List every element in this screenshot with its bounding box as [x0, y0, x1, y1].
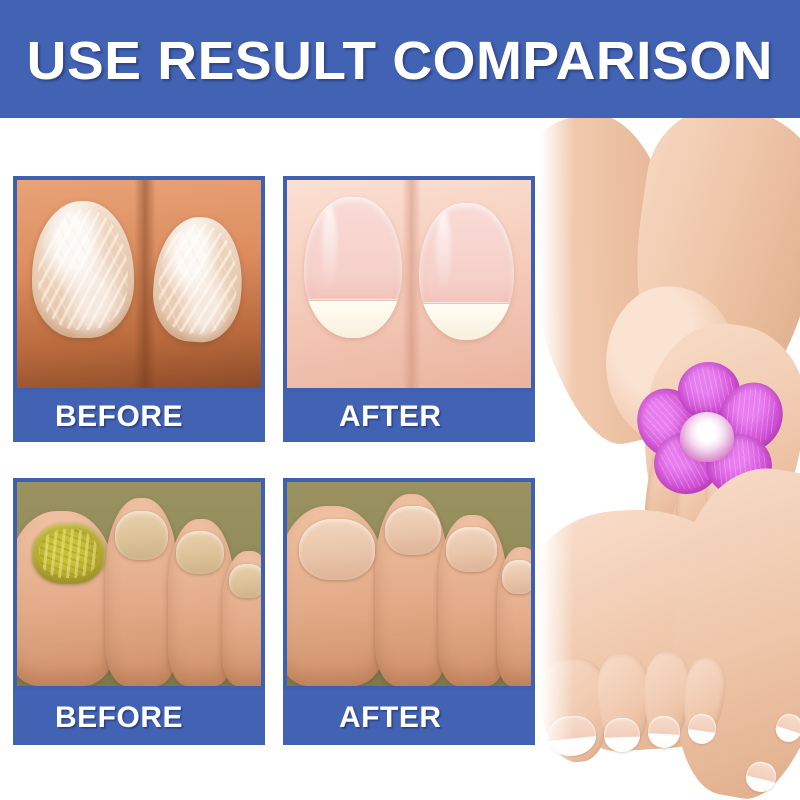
- photo-edge-fade: [540, 118, 574, 800]
- feet-with-orchid-photo: [540, 118, 800, 800]
- product-comparison-graphic: USE RESULT COMPARISON BEFORE: [0, 0, 800, 800]
- photo-art: [17, 180, 261, 388]
- toenail: [176, 531, 225, 574]
- comparison-cell-after-toenails: AFTER: [283, 478, 535, 745]
- comparison-cell-after-fingernails: AFTER: [283, 176, 535, 442]
- toenail: [115, 511, 169, 560]
- healthy-fingernails-photo: [283, 176, 535, 392]
- toenail: [385, 506, 441, 555]
- toenail: [299, 519, 375, 580]
- damaged-fingernails-photo: [13, 176, 265, 392]
- comparison-label: AFTER: [339, 703, 442, 733]
- comparison-cell-before-fingernails: BEFORE: [13, 176, 265, 442]
- header-banner: USE RESULT COMPARISON: [0, 0, 800, 118]
- photo-art: [287, 180, 531, 388]
- infected-toenail: [32, 523, 105, 584]
- toenail: [446, 527, 497, 572]
- label-band-after: AFTER: [283, 392, 535, 442]
- comparison-cell-before-toenails: BEFORE: [13, 478, 265, 745]
- comparison-grid: BEFORE AFTER: [13, 176, 536, 746]
- treated-toenails-photo: [283, 478, 535, 690]
- damaged-nail: [32, 201, 134, 338]
- damaged-nail: [149, 215, 245, 346]
- comparison-label: BEFORE: [55, 402, 183, 432]
- comparison-label: AFTER: [339, 402, 442, 432]
- healthy-nail: [419, 203, 514, 340]
- fungal-toenails-photo: [13, 478, 265, 690]
- label-band-before: BEFORE: [13, 690, 265, 745]
- finger-gap: [402, 180, 422, 388]
- photo-art: [17, 482, 261, 686]
- healthy-nail: [304, 197, 402, 338]
- label-band-before: BEFORE: [13, 392, 265, 442]
- comparison-label: BEFORE: [55, 703, 183, 733]
- page-title: USE RESULT COMPARISON: [27, 30, 773, 88]
- toenail: [229, 564, 265, 599]
- photo-art: [287, 482, 531, 686]
- orchid-center: [680, 412, 734, 462]
- label-band-after: AFTER: [283, 690, 535, 745]
- toenail: [502, 560, 535, 595]
